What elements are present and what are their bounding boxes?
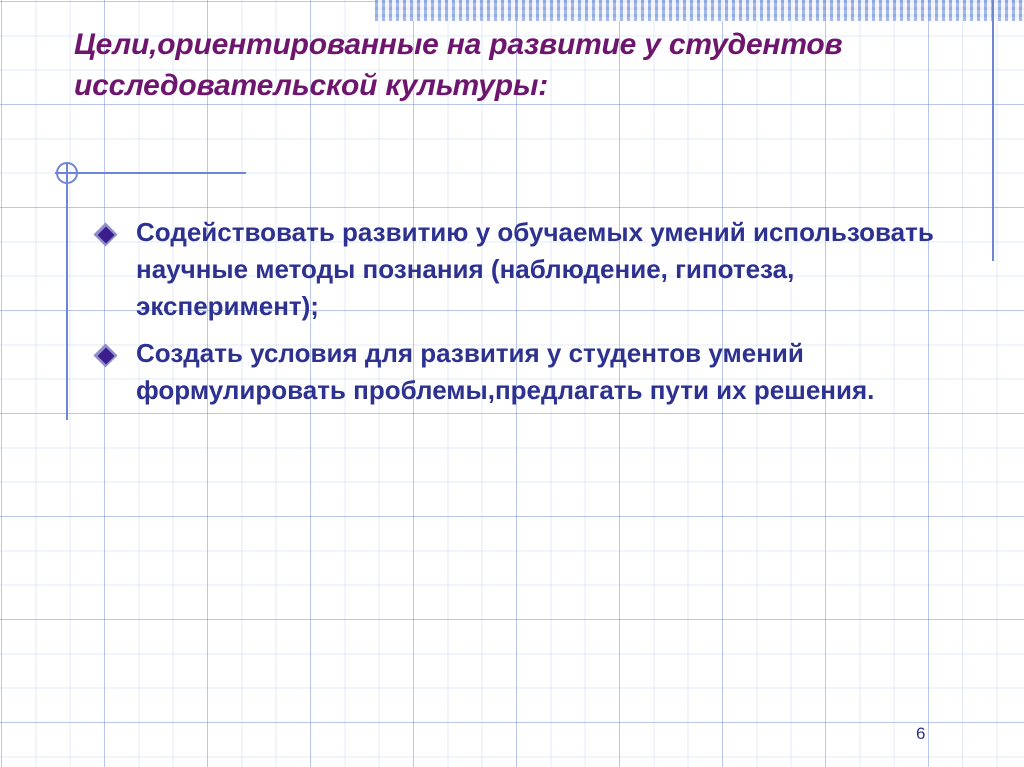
decorative-circle [56, 162, 78, 184]
top-decorative-band [375, 0, 1024, 21]
list-item-text: Создать условия для развития у студентов… [136, 335, 936, 409]
diamond-bullet-icon [96, 225, 116, 245]
list-item: Содействовать развитию у обучаемых умени… [96, 214, 936, 325]
bullet-list: Содействовать развитию у обучаемых умени… [96, 214, 936, 419]
right-vertical-rule [992, 0, 994, 261]
slide-title: Цели,ориентированные на развитие у студе… [74, 24, 934, 106]
diamond-bullet-icon [96, 346, 116, 366]
decorative-horizontal-line [55, 172, 246, 174]
list-item-text: Содействовать развитию у обучаемых умени… [136, 214, 936, 325]
list-item: Создать условия для развития у студентов… [96, 335, 936, 409]
decorative-vertical-line [66, 164, 68, 420]
slide-canvas: Цели,ориентированные на развитие у студе… [0, 0, 1024, 767]
page-number: 6 [916, 724, 925, 744]
